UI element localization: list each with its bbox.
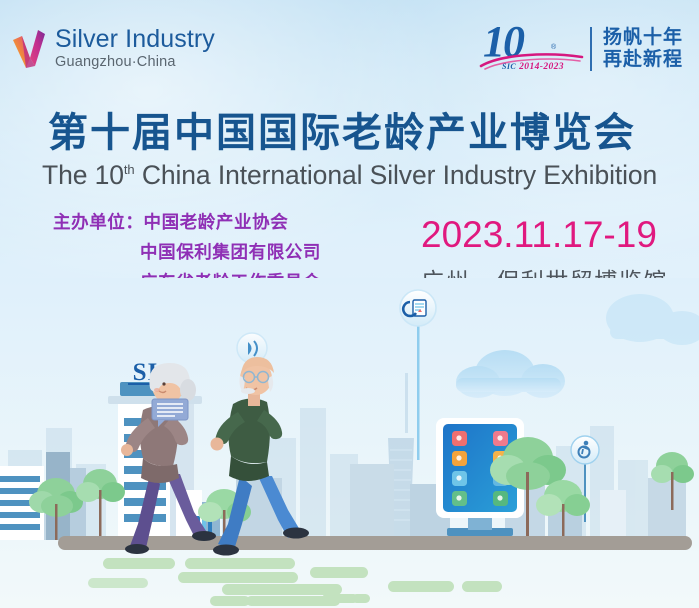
- badge-years: SIC2014-2023: [485, 62, 581, 72]
- badge-divider: [590, 27, 592, 71]
- title-en-post: China International Silver Industry Exhi…: [135, 160, 658, 190]
- brand-name: Silver Industry: [55, 27, 215, 52]
- title-en-pre: The 10: [42, 160, 124, 190]
- city-scene-graphic: SIC: [0, 278, 699, 608]
- organizer-line-1: 主办单位：中国老龄产业协会: [53, 208, 321, 238]
- badge-org-abbr: SIC: [502, 62, 516, 71]
- badge-10-mark: 10 ® SIC2014-2023: [479, 22, 584, 76]
- walking-path: [58, 536, 692, 550]
- silver-industry-bird-logo-icon: [10, 24, 50, 72]
- exhibition-poster: Silver Industry Guangzhou·China 10 ® SIC…: [0, 0, 699, 608]
- chat-bubble-icon: [151, 398, 189, 428]
- badge-slogan-line1: 扬帆十年: [603, 27, 683, 49]
- anniversary-badge: 10 ® SIC2014-2023 扬帆十年 再赴新程: [479, 23, 683, 75]
- badge-slogan-line2: 再赴新程: [603, 49, 683, 71]
- badge-slogan: 扬帆十年 再赴新程: [603, 27, 683, 71]
- title-en-ordinal: th: [124, 162, 135, 177]
- badge-year-range: 2014-2023: [519, 62, 564, 72]
- organizer-line-2: 中国保利集团有限公司: [53, 238, 321, 268]
- page-title-chinese: 第十届中国国际老龄产业博览会: [48, 100, 636, 158]
- page-title-english: The 10th China International Silver Indu…: [42, 160, 657, 191]
- illustration-scene: SIC: [0, 278, 699, 608]
- event-date: 2023.11.17-19: [421, 214, 668, 256]
- brand-location: Guangzhou·China: [55, 55, 215, 70]
- brand-logo[interactable]: Silver Industry Guangzhou·China: [10, 24, 215, 72]
- registered-mark-icon: ®: [551, 44, 556, 51]
